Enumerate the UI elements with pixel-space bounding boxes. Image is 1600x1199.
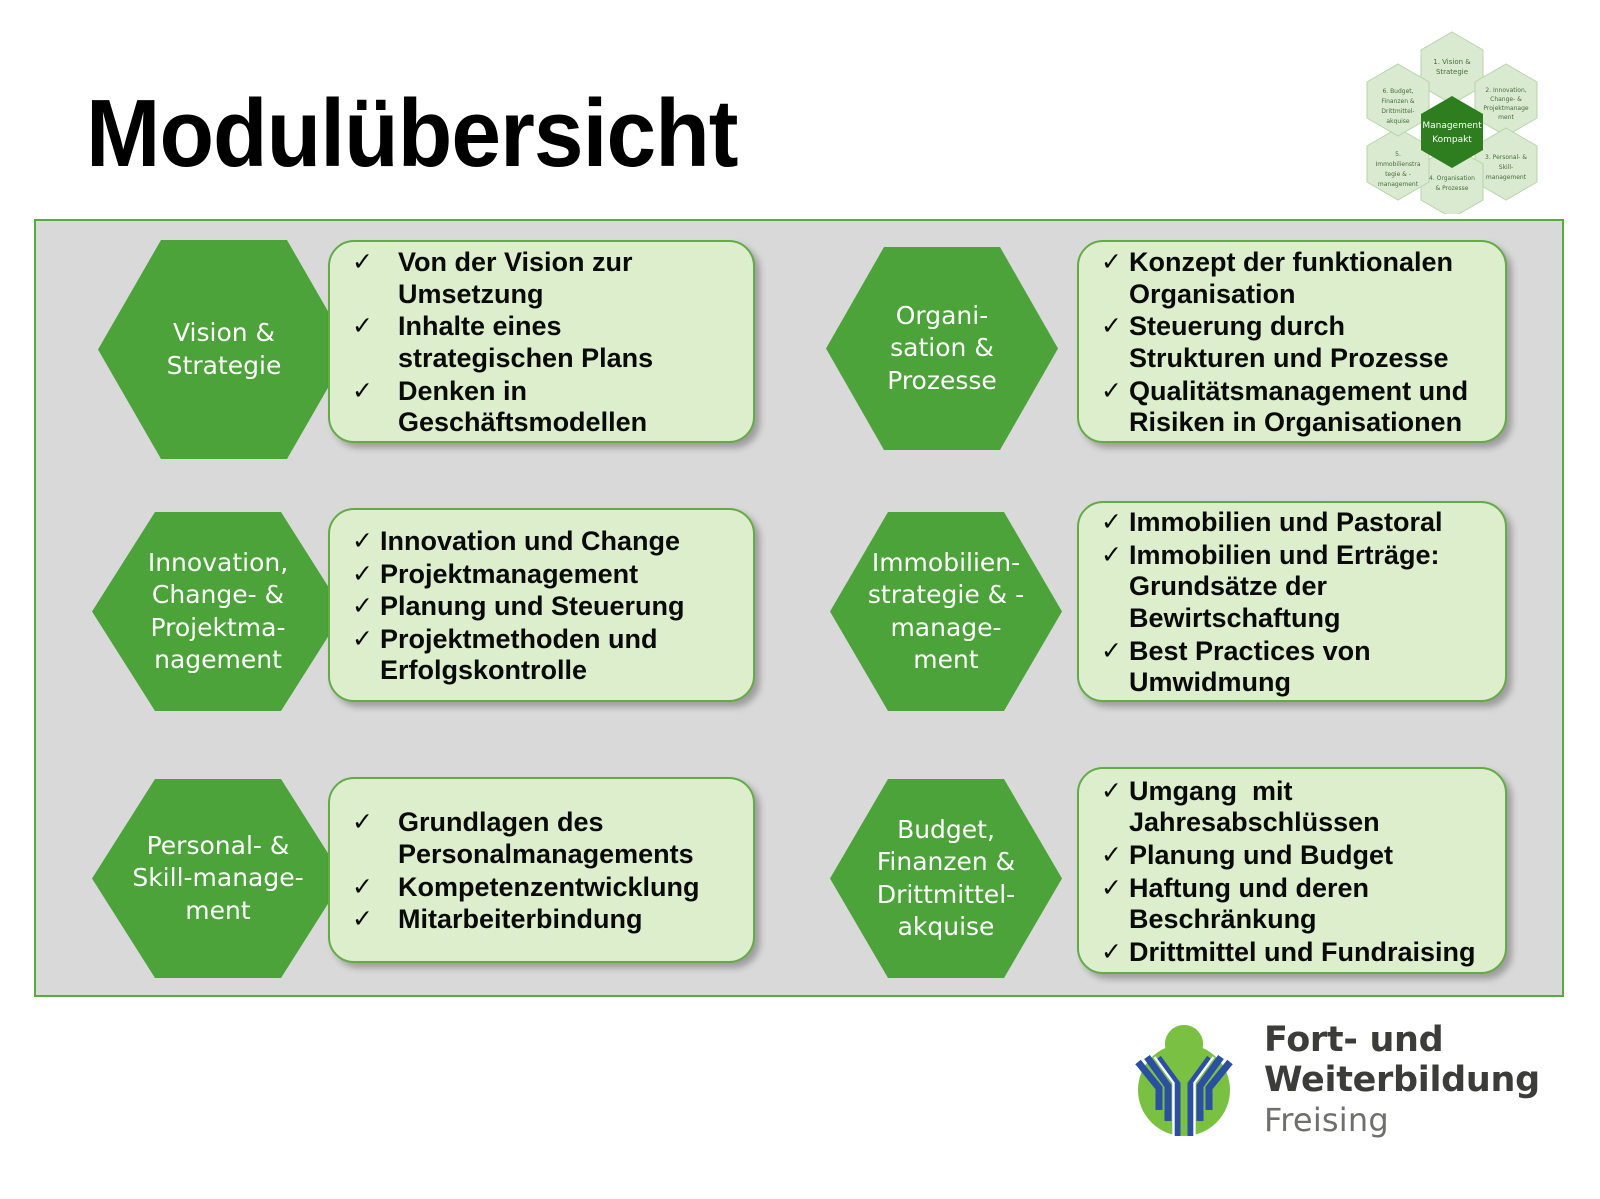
svg-text:Finanzen &: Finanzen & (1381, 98, 1415, 105)
bullet-text: Drittmittel und Fundraising (1129, 937, 1475, 969)
module-hex-label: Budget, Finanzen & Drittmittel- akquise (877, 814, 1015, 944)
list-item: ✓Konzept der funktionalen Organisation (1101, 247, 1489, 310)
bullet-text: Haftung und deren Beschränkung (1129, 873, 1489, 936)
logo-petal-3-label: 3. Personal- & (1485, 154, 1527, 161)
list-item: ✓Planung und Steuerung (352, 591, 737, 623)
bullet-text: Planung und Steuerung (380, 591, 685, 623)
module-hex-label: Organi- sation & Prozesse (887, 300, 997, 398)
list-item: ✓Denken in Geschäftsmodellen (352, 376, 737, 439)
svg-text:Strategie: Strategie (1436, 68, 1468, 76)
module-hex-innovation-change-projektmanagement[interactable]: Innovation, Change- & Projektma- nagemen… (92, 512, 344, 711)
bullet-text: Immobilien und Pastoral (1129, 507, 1443, 539)
module-card-immobilienstrategie-management: ✓Immobilien und Pastoral ✓Immobilien und… (1077, 501, 1507, 702)
page-title: Modulübersicht (86, 86, 738, 182)
module-hex-personal-skillmanagement[interactable]: Personal- & Skill-manage- ment (92, 779, 344, 978)
svg-text:management: management (1486, 174, 1527, 181)
bullet-text: Projektmethoden und Erfolgskontrolle (380, 624, 737, 687)
svg-text:& Prozesse: & Prozesse (1436, 185, 1469, 192)
module-bullet-list: ✓Umgang mit Jahresabschlüssen ✓Planung u… (1101, 776, 1489, 969)
module-hex-label: Vision & Strategie (167, 317, 282, 382)
svg-text:akquise: akquise (1386, 118, 1410, 125)
logo-petal-1-label: 1. Vision & (1433, 58, 1471, 66)
logo-petal-2-label: 2. Innovation, (1485, 87, 1526, 94)
module-hex-vision-strategie[interactable]: Vision & Strategie (98, 240, 350, 459)
check-icon: ✓ (1101, 937, 1129, 968)
module-hex-label: Innovation, Change- & Projektma- nagemen… (148, 547, 288, 677)
logo-petal-4-label: 4. Organisation (1429, 175, 1475, 182)
bullet-text: Best Practices von Umwidmung (1129, 636, 1489, 699)
check-icon: ✓ (1101, 840, 1129, 871)
bullet-text: Immobilien und Erträge: Grundsätze der B… (1129, 540, 1489, 635)
list-item: ✓Innovation und Change (352, 526, 737, 558)
logo-petal-5: 5. Immobilienstra tegie & - management (1367, 128, 1429, 200)
list-item: ✓Planung und Budget (1101, 840, 1489, 872)
check-icon: ✓ (352, 807, 398, 838)
module-bullet-list: ✓Innovation und Change ✓Projektmanagemen… (352, 526, 737, 688)
module-bullet-list: ✓Immobilien und Pastoral ✓Immobilien und… (1101, 507, 1489, 699)
module-bullet-list: ✓Von der Vision zur Umsetzung ✓Inhalte e… (352, 247, 737, 439)
check-icon: ✓ (1101, 540, 1129, 571)
module-card-personal-skillmanagement: ✓Grundlagen des Personalmanagements ✓Kom… (328, 777, 755, 963)
list-item: ✓Von der Vision zur Umsetzung (352, 247, 737, 310)
module-card-organisation-prozesse: ✓Konzept der funktionalen Organisation ✓… (1077, 240, 1507, 443)
bullet-text: Konzept der funktionalen Organisation (1129, 247, 1489, 310)
module-hex-immobilienstrategie-management[interactable]: Immobilien- strategie & - manage- ment (830, 512, 1062, 711)
module-overview-panel: Vision & Strategie ✓Von der Vision zur U… (34, 219, 1564, 997)
bullet-text: Von der Vision zur Umsetzung (398, 247, 737, 310)
list-item: ✓Best Practices von Umwidmung (1101, 636, 1489, 699)
management-kompakt-logo: 1. Vision & Strategie 2. Innovation, Cha… (1336, 18, 1568, 214)
list-item: ✓Grundlagen des Personalmanagements (352, 807, 737, 870)
svg-text:Immobilienstra: Immobilienstra (1375, 161, 1420, 168)
fortbildung-mark-icon (1122, 1018, 1246, 1142)
bullet-text: Projektmanagement (380, 559, 638, 591)
logo-petal-1: 1. Vision & Strategie (1421, 32, 1483, 104)
check-icon: ✓ (352, 559, 380, 590)
bullet-text: Innovation und Change (380, 526, 680, 558)
check-icon: ✓ (352, 904, 398, 935)
module-card-vision-strategie: ✓Von der Vision zur Umsetzung ✓Inhalte e… (328, 240, 755, 443)
module-card-budget-finanzen-drittmittelakquise: ✓Umgang mit Jahresabschlüssen ✓Planung u… (1077, 767, 1507, 974)
logo-center-label-1: Management (1422, 121, 1482, 131)
list-item: ✓Qualitätsmanagement und Risiken in Orga… (1101, 376, 1489, 439)
list-item: ✓Immobilien und Erträge: Grundsätze der … (1101, 540, 1489, 635)
check-icon: ✓ (352, 376, 398, 407)
module-card-innovation-change-projektmanagement: ✓Innovation und Change ✓Projektmanagemen… (328, 508, 755, 702)
bullet-text: Qualitätsmanagement und Risiken in Organ… (1129, 376, 1489, 439)
brand-wordmark: Fort- und Weiterbildung Freising (1264, 1021, 1540, 1139)
module-hex-label: Immobilien- strategie & - manage- ment (868, 547, 1024, 677)
bullet-text: Denken in Geschäftsmodellen (398, 376, 737, 439)
brand-line-1: Fort- und (1264, 1021, 1540, 1061)
logo-center-label-2: Kompakt (1432, 135, 1472, 145)
check-icon: ✓ (1101, 507, 1129, 538)
list-item: ✓Immobilien und Pastoral (1101, 507, 1489, 539)
bullet-text: Mitarbeiterbindung (398, 904, 643, 936)
svg-text:Projektmanage: Projektmanage (1483, 105, 1529, 112)
module-bullet-list: ✓Grundlagen des Personalmanagements ✓Kom… (352, 807, 737, 936)
list-item: ✓Mitarbeiterbindung (352, 904, 737, 936)
logo-petal-6-label: 6. Budget, (1382, 88, 1413, 95)
list-item: ✓Inhalte eines strategischen Plans (352, 311, 737, 374)
svg-text:Drittmittel-: Drittmittel- (1381, 108, 1414, 115)
bullet-text: Inhalte eines strategischen Plans (398, 311, 737, 374)
check-icon: ✓ (1101, 376, 1129, 407)
check-icon: ✓ (1101, 776, 1129, 807)
logo-petal-3: 3. Personal- & Skill- management (1475, 128, 1537, 200)
logo-petal-6: 6. Budget, Finanzen & Drittmittel- akqui… (1367, 64, 1429, 136)
check-icon: ✓ (352, 591, 380, 622)
list-item: ✓Drittmittel und Fundraising (1101, 937, 1489, 969)
list-item: ✓Haftung und deren Beschränkung (1101, 873, 1489, 936)
logo-petal-5-label: 5. (1395, 151, 1401, 158)
brand-line-2: Weiterbildung (1264, 1061, 1540, 1101)
bullet-text: Planung und Budget (1129, 840, 1393, 872)
bullet-text: Kompetenzentwicklung (398, 872, 700, 904)
bullet-text: Umgang mit Jahresabschlüssen (1129, 776, 1489, 839)
svg-text:Skill-: Skill- (1499, 164, 1513, 171)
check-icon: ✓ (352, 872, 398, 903)
module-hex-budget-finanzen-drittmittelakquise[interactable]: Budget, Finanzen & Drittmittel- akquise (830, 779, 1062, 978)
logo-petal-2: 2. Innovation, Change- & Projektmanage m… (1475, 64, 1537, 136)
check-icon: ✓ (1101, 247, 1129, 278)
bullet-text: Grundlagen des Personalmanagements (398, 807, 737, 870)
list-item: ✓Projektmethoden und Erfolgskontrolle (352, 624, 737, 687)
list-item: ✓Projektmanagement (352, 559, 737, 591)
brand-logo: Fort- und Weiterbildung Freising (1122, 1014, 1512, 1146)
logo-center-hex: Management Kompakt (1421, 96, 1483, 168)
check-icon: ✓ (352, 526, 380, 557)
check-icon: ✓ (1101, 636, 1129, 667)
check-icon: ✓ (1101, 311, 1129, 342)
list-item: ✓Kompetenzentwicklung (352, 872, 737, 904)
check-icon: ✓ (1101, 873, 1129, 904)
svg-text:Change- &: Change- & (1490, 96, 1522, 103)
svg-text:ment: ment (1498, 114, 1514, 121)
check-icon: ✓ (352, 247, 398, 278)
bullet-text: Steuerung durch Strukturen und Prozesse (1129, 311, 1489, 374)
module-hex-organisation-prozesse[interactable]: Organi- sation & Prozesse (826, 247, 1058, 450)
brand-line-3: Freising (1264, 1101, 1540, 1139)
module-bullet-list: ✓Konzept der funktionalen Organisation ✓… (1101, 247, 1489, 439)
list-item: ✓Umgang mit Jahresabschlüssen (1101, 776, 1489, 839)
check-icon: ✓ (352, 624, 380, 655)
module-hex-label: Personal- & Skill-manage- ment (132, 830, 303, 928)
list-item: ✓Steuerung durch Strukturen und Prozesse (1101, 311, 1489, 374)
svg-text:management: management (1378, 181, 1419, 188)
svg-text:tegie & -: tegie & - (1385, 171, 1411, 178)
check-icon: ✓ (352, 311, 398, 342)
